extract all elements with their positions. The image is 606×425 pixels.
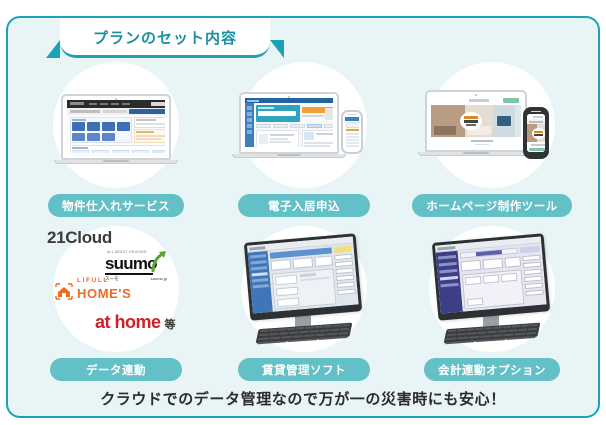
page-title: プランのセット内容 <box>60 18 270 58</box>
card-label-e-application: 電子入居申込 <box>238 194 370 217</box>
device-illustration-laptop-phone <box>241 62 367 188</box>
logo-21cloud: 21Cloud <box>47 228 112 248</box>
device-illustration-laptop-phone-web <box>429 62 555 188</box>
logo-lifull-homes: LIFULL HOME'S <box>55 278 147 300</box>
lifull-wordmark: LIFULL <box>77 278 131 285</box>
card-row-bottom: 21Cloud ALL ABOUT HOUSING suumo スーモ suum… <box>22 226 588 381</box>
card-rental-management[interactable]: 賃貸管理ソフト <box>210 226 398 381</box>
card-accounting-option[interactable]: 会計連動オプション <box>398 226 586 381</box>
card-e-application[interactable]: 電子入居申込 <box>210 62 398 217</box>
house-icon <box>55 283 73 300</box>
suumo-url: suumo.jp <box>151 276 167 282</box>
suumo-arrow-icon <box>150 250 167 272</box>
plan-contents-panel: プランのセット内容 <box>6 16 600 418</box>
suumo-wordmark: suumo <box>105 255 157 272</box>
phone-illustration <box>341 110 363 154</box>
suumo-underline <box>105 273 153 275</box>
athome-wordmark: at home <box>95 312 161 333</box>
section-tab: プランのセット内容 <box>60 18 270 58</box>
card-data-linkage[interactable]: 21Cloud ALL ABOUT HOUSING suumo スーモ suum… <box>22 226 210 381</box>
homes-wordmark: HOME'S <box>77 287 131 300</box>
device-illustration-desktop-accounting <box>429 226 555 352</box>
card-row-top: 物件仕入れサービス <box>22 62 588 217</box>
partner-logos-group: 21Cloud ALL ABOUT HOUSING suumo スーモ suum… <box>53 226 179 352</box>
footer-message: クラウドでのデータ管理なので万が一の災害時にも安心！ <box>8 388 598 409</box>
phone-illustration <box>523 107 549 159</box>
card-label-accounting-option: 会計連動オプション <box>424 358 560 381</box>
card-label-website-builder: ホームページ制作ツール <box>412 194 571 217</box>
card-label-rental-management: 賃貸管理ソフト <box>238 358 370 381</box>
device-illustration-desktop-rental <box>241 226 367 352</box>
logo-athome: at home 等 <box>95 312 176 333</box>
card-website-builder[interactable]: ホームページ制作ツール <box>398 62 586 217</box>
card-label-data-linkage: データ連動 <box>50 358 182 381</box>
device-illustration-laptop <box>53 62 179 188</box>
athome-etc-label: 等 <box>165 316 176 332</box>
card-property-sourcing[interactable]: 物件仕入れサービス <box>22 62 210 217</box>
card-label-property-sourcing: 物件仕入れサービス <box>48 194 184 217</box>
